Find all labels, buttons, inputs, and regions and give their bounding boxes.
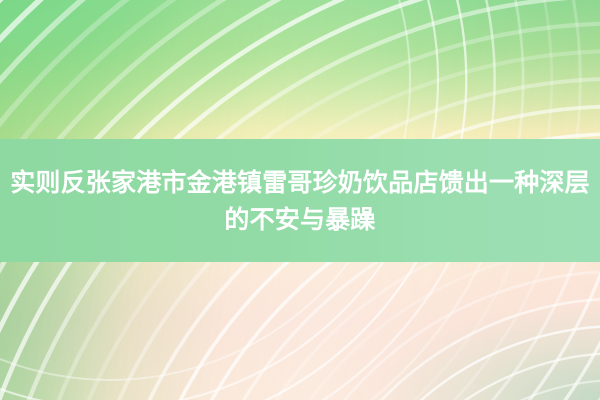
headline-container: 实则反张家港市金港镇雷哥珍奶饮品店馈出一种深层的不安与暴躁 bbox=[0, 139, 600, 262]
promo-banner: 实则反张家港市金港镇雷哥珍奶饮品店馈出一种深层的不安与暴躁 bbox=[0, 0, 600, 400]
headline-text: 实则反张家港市金港镇雷哥珍奶饮品店馈出一种深层的不安与暴躁 bbox=[8, 164, 592, 238]
